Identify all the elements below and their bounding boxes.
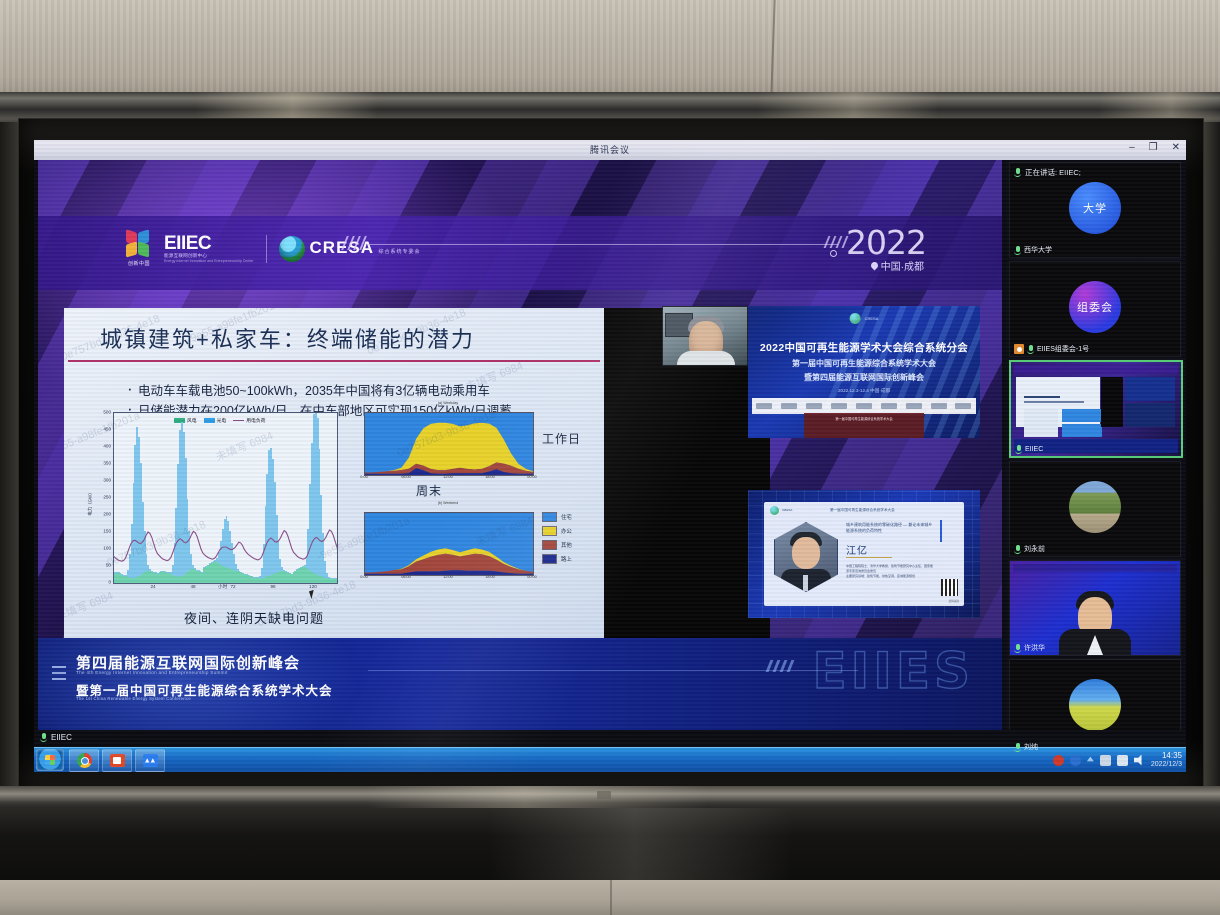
weekend-label: 周末 (416, 482, 442, 499)
close-icon[interactable]: ✕ (1172, 142, 1180, 154)
poster-stage-text: 第一届中国可再生能源综合系统学术大会 (804, 417, 924, 421)
eiiec-wordmark: EIIEC (164, 234, 254, 253)
window-titlebar: 腾讯会议 – ❐ ✕ (34, 140, 1186, 161)
footer-title-en-2: The 1st China Renewable Energy System Co… (76, 696, 191, 701)
help-icon[interactable] (1070, 755, 1081, 766)
participant-tile-xihua[interactable]: 正在讲话: EIIEC; 大学 西华大学 (1009, 162, 1181, 258)
slide-bullet: 电动车车载电池50~100kWh，2035年中国将有3亿辆电动乘用车 (126, 381, 512, 401)
deck-footer-bar: 第四届能源互联网国际创新峰会 The 4th Energy Internet I… (38, 638, 1002, 730)
poster-line-2: 第一届中国可再生能源综合系统学术大会 (748, 358, 980, 369)
mic-icon (1014, 743, 1021, 752)
chart-x-axis-label: 小时 (218, 584, 227, 590)
system-tray[interactable]: 14:35 2022/12/3 (1053, 748, 1182, 772)
brand-cube-icon (126, 230, 152, 258)
speaking-label: 正在讲话: EIIEC; (1025, 167, 1081, 178)
speaker-bio-line-2: 主要研究领域：建筑节能、供热空调、区域能源规划 (846, 574, 934, 579)
slide-caption: 夜间、连阴天缺电问题 (184, 608, 324, 627)
slide-title-rule (68, 360, 600, 362)
mic-icon (40, 733, 47, 742)
x-tick: 24 (150, 584, 155, 589)
footer-title-en-1: The 4th Energy Internet Innovation and E… (76, 670, 228, 675)
deck-year: 2022 (846, 223, 926, 262)
speaker-topic: 城乡建筑用能系统的零碳化路径 — 兼论未来城乡能源系统的负荷特性 (846, 522, 934, 534)
speaker-bio: 中国工程院院士、清华大学教授，建筑节能研究中心主任，国家能源专家咨询委员会委员 … (846, 564, 934, 579)
poster-date: 2022.12.3-12.4 中国·成都 (748, 388, 980, 394)
poster-stage-backdrop: 第一届中国可再生能源综合系统学术大会 (804, 413, 924, 438)
eiiec-en-label: Energy Internet Innovation and Entrepren… (164, 259, 254, 264)
x-tick: 00:00 (527, 475, 537, 479)
header-node-icon (830, 250, 837, 257)
mic-icon (1027, 345, 1034, 354)
speaker-name-underline (846, 557, 892, 558)
y-tick: 250 (103, 495, 111, 500)
x-tick: 06:00 (401, 475, 411, 479)
participant-name-row: EIIES组委会-1号 (1014, 344, 1089, 354)
participant-name-row: 刘纯 (1014, 742, 1038, 752)
x-tick: 48 (190, 584, 195, 589)
pip-shirt (677, 351, 735, 365)
y-tick: 100 (103, 546, 111, 551)
legend-item-commute: 路上 (542, 554, 572, 564)
participant-video (1010, 561, 1180, 655)
participant-tile-organizer[interactable]: 组委会 EIIES组委会-1号 (1009, 261, 1181, 357)
preview-poster (1125, 377, 1175, 401)
poster-logo: CRESA (850, 313, 879, 324)
participant-name: 许洪华 (1024, 643, 1045, 653)
y-tick: 50 (106, 563, 111, 568)
header-tick-marks-right (826, 236, 846, 248)
display-brand-badge (597, 791, 611, 799)
preview-chart-left (1024, 409, 1058, 437)
occupancy-charts: (a) Weekday 0:0006:0012:0018:0000:00 工作日… (364, 400, 589, 610)
self-name: EIIEC (51, 733, 72, 742)
weekday-label: 工作日 (542, 430, 581, 447)
presenter-video-thumbnail[interactable] (662, 306, 748, 366)
speaker-portrait (774, 522, 838, 592)
x-tick: 18:00 (485, 475, 495, 479)
show-hidden-icon[interactable] (1087, 757, 1094, 764)
portrait-shirt (803, 575, 808, 591)
participant-name-row: 西华大学 (1014, 245, 1052, 255)
restore-icon[interactable]: ❐ (1149, 142, 1158, 154)
chrome-icon[interactable] (69, 749, 99, 772)
tencent-meeting-icon[interactable] (135, 749, 165, 772)
participant-name: 刘永前 (1024, 544, 1045, 554)
deck-location-label: 中国·成都 (881, 258, 924, 273)
weekend-x-axis: 0:0006:0012:0018:0000:00 (364, 575, 532, 583)
speaker-cresa-icon (770, 506, 779, 515)
footer-tick-marks (768, 660, 792, 672)
ceiling (0, 0, 1220, 96)
logo-divider (266, 235, 267, 263)
qr-code-label: 扫码关注 (949, 599, 959, 603)
poster-line-1: 2022中国可再生能源学术大会综合系统分会 (748, 340, 980, 355)
qr-code-icon (941, 579, 958, 596)
x-tick: 72 (230, 584, 235, 589)
start-button[interactable] (36, 749, 64, 771)
mic-icon (1014, 644, 1021, 653)
legend-item-other: 其他 (542, 540, 572, 550)
participant-name: EIIES组委会-1号 (1037, 344, 1089, 354)
minimize-icon[interactable]: – (1129, 142, 1135, 154)
participant-tile-liuyongqian[interactable]: 刘永前 (1009, 461, 1181, 557)
volume-icon[interactable] (1134, 755, 1145, 766)
footer-menu-icon (52, 666, 66, 684)
x-tick: 96 (270, 584, 275, 589)
windows-logo-icon (45, 755, 55, 765)
y-tick: 200 (103, 512, 111, 517)
preview-header (1014, 365, 1178, 374)
window-title: 腾讯会议 (34, 143, 1186, 156)
preview-chart-bottom (1062, 424, 1102, 437)
poster-sponsor-strip (752, 398, 976, 414)
preview-slide-title (1024, 396, 1060, 398)
self-name-row: EIIEC (40, 733, 72, 742)
participant-tile-xuhonghua[interactable]: 许洪华 (1009, 560, 1181, 656)
x-tick: 12:00 (443, 575, 453, 579)
preview-chart-top (1062, 409, 1102, 422)
participant-tile-eiiec[interactable]: EIIEC (1009, 360, 1183, 458)
x-tick: 12:00 (443, 475, 453, 479)
mic-icon (1014, 246, 1021, 255)
speaker-card-panel: CRESA 第一届中国可再生能源综合系统学术大会 城乡建筑用能系统的零碳化路径 … (748, 490, 980, 618)
clock-time: 14:35 (1162, 751, 1182, 760)
brand-cn-label: 创新中国 (128, 260, 150, 267)
participant-rail[interactable]: 正在讲话: EIIEC; 大学 西华大学 组委会 EIIES组委会-1号 (1006, 160, 1182, 732)
deck-location: 中国·成都 (871, 258, 924, 273)
host-badge-icon (1014, 344, 1024, 354)
speaker-card-header: 第一届中国可再生能源综合系统学术大会 (830, 508, 895, 513)
video-background-banner (1013, 564, 1177, 572)
presentation-slide: 城镇建筑+私家车：终端储能的潜力 电动车车载电池50~100kWh，2035年中… (64, 308, 604, 644)
mic-icon (1014, 168, 1021, 177)
floor-seam (610, 880, 612, 915)
sogou-input-icon[interactable] (1053, 755, 1064, 766)
speaker-card: CRESA 第一届中国可再生能源综合系统学术大会 城乡建筑用能系统的零碳化路径 … (764, 502, 964, 606)
clock-date: 2022/12/3 (1151, 760, 1182, 769)
eiies-watermark: EIIES (812, 642, 974, 700)
avatar (1069, 679, 1121, 731)
avatar: 大学 (1069, 182, 1121, 234)
meeting-window-body: 创新中国 EIIEC 能源互联网创新中心 Energy Internet Inn… (34, 160, 1186, 730)
speaker-logo-label: CRESA (782, 509, 792, 513)
x-tick: 06:00 (401, 575, 411, 579)
eiiec-logo: EIIEC 能源互联网创新中心 Energy Internet Innovati… (164, 234, 254, 264)
x-tick: 18:00 (485, 575, 495, 579)
x-tick: 0:00 (360, 475, 367, 479)
weekend-chart-caption: (b) Weekend (364, 501, 532, 505)
conference-poster-panel: CRESA 2022中国可再生能源学术大会综合系统分会 第一届中国可再生能源综合… (748, 306, 980, 438)
y-tick: 300 (103, 478, 111, 483)
action-center-icon[interactable] (1117, 755, 1128, 766)
avatar: 组委会 (1069, 281, 1121, 333)
occupancy-legend: 住宅 办公 其他 路上 (542, 512, 572, 568)
display-screen: 腾讯会议 – ❐ ✕ 创新中国 (34, 140, 1186, 772)
x-tick: 00:00 (527, 575, 537, 579)
chart-plot-area: 风电 光电 用电负荷 (113, 412, 338, 584)
legend-item-office: 办公 (542, 526, 572, 536)
y-tick: 500 (103, 410, 111, 415)
y-tick: 400 (103, 444, 111, 449)
speaker-name: 江亿 (846, 542, 868, 557)
poster-logo-label: CRESA (865, 316, 879, 321)
chart-load-line (114, 413, 338, 583)
avatar (1069, 481, 1121, 533)
header-rule (368, 244, 838, 245)
poster-line-3: 暨第四届能源互联网国际创新峰会 (748, 372, 980, 383)
weekday-x-axis: 0:0006:0012:0018:0000:00 (364, 475, 532, 483)
legend-item-residential: 住宅 (542, 512, 572, 522)
portrait-face (792, 537, 820, 569)
clock[interactable]: 14:35 2022/12/3 (1151, 751, 1182, 769)
preview-speaker-card (1125, 403, 1175, 427)
participant-name-row: 许洪华 (1014, 643, 1045, 653)
room-photo: 腾讯会议 – ❐ ✕ 创新中国 (0, 0, 1220, 915)
cresa-mark-icon (279, 236, 305, 262)
header-tick-marks-left (344, 236, 364, 250)
participant-name-row: EIIEC (1015, 445, 1043, 454)
renewable-load-chart: 电力（GW） 050100150200250300350400450500 风电… (88, 412, 338, 602)
mic-icon (1015, 445, 1022, 454)
participant-name: 刘纯 (1024, 742, 1038, 752)
y-tick: 0 (108, 580, 111, 585)
deck-logo-group: 创新中国 EIIEC 能源互联网创新中心 Energy Internet Inn… (126, 230, 421, 267)
preview-letterbox (1101, 377, 1123, 427)
location-pin-icon (869, 261, 879, 271)
window-controls: – ❐ ✕ (1129, 142, 1180, 154)
y-tick: 150 (103, 529, 111, 534)
network-icon[interactable] (1100, 755, 1111, 766)
quick-launch-bar[interactable] (69, 749, 165, 772)
shared-screen-preview (1011, 362, 1181, 456)
speaking-indicator: 正在讲话: EIIEC; (1014, 167, 1081, 178)
weekday-chart-caption: (a) Weekday (364, 401, 532, 405)
preview-slide-text (1024, 401, 1084, 403)
poster-cresa-icon (850, 313, 861, 324)
cresa-cn-label: 综合系统专委会 (378, 249, 420, 255)
y-tick: 350 (103, 461, 111, 466)
speaker-bio-line-1: 中国工程院院士、清华大学教授，建筑节能研究中心主任，国家能源专家咨询委员会委员 (846, 564, 934, 574)
weekday-area-chart (364, 412, 534, 476)
shared-screen-area[interactable]: 创新中国 EIIEC 能源互联网创新中心 Energy Internet Inn… (38, 160, 1002, 730)
participant-name: 西华大学 (1024, 245, 1052, 255)
preview-slide (1016, 377, 1100, 427)
y-tick: 450 (103, 427, 111, 432)
speaker-card-logo: CRESA (770, 506, 792, 515)
chart-y-axis: 050100150200250300350400450500 (88, 412, 112, 582)
mic-icon (1014, 545, 1021, 554)
speaker-accent-bar (940, 520, 942, 542)
cabinet (0, 808, 1220, 886)
x-tick: 0:00 (360, 575, 367, 579)
camera-icon[interactable] (102, 749, 132, 772)
weekend-area-chart (364, 512, 534, 576)
participant-name-row: 刘永前 (1014, 544, 1045, 554)
slide-title: 城镇建筑+私家车：终端储能的潜力 (100, 322, 475, 354)
participant-name: EIIEC (1025, 446, 1043, 453)
